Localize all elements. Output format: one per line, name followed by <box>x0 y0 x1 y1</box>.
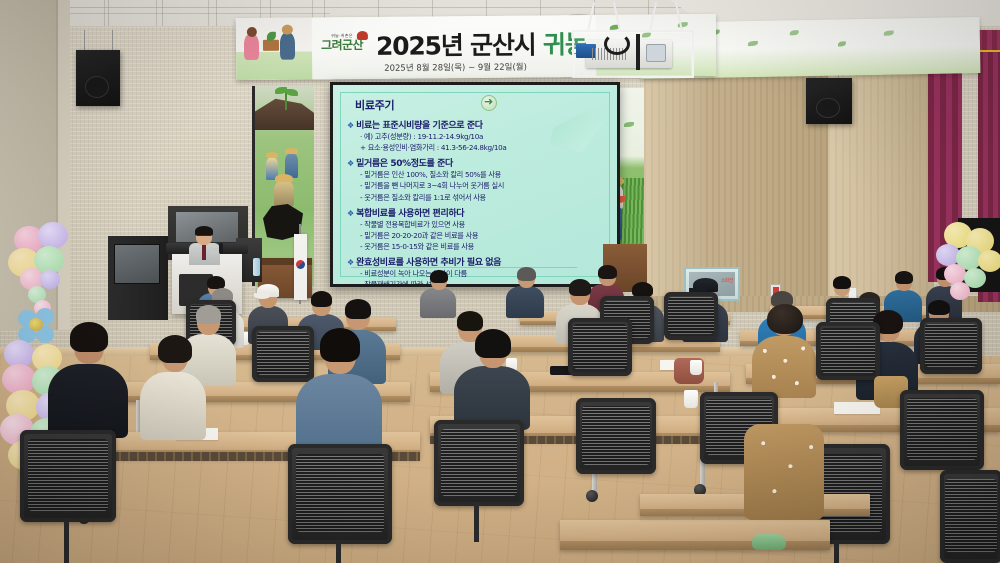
attendee-hair <box>569 279 591 296</box>
leaf-icon <box>624 122 634 127</box>
paper-cup <box>684 390 698 408</box>
chair-frame <box>940 470 1000 563</box>
chair[interactable] <box>576 398 656 474</box>
attendee <box>420 270 456 318</box>
korean-flag <box>294 234 307 300</box>
slide-bullet-list: 비료는 표준시비량을 기준으로 준다예) 고추(성분량) : 19-11.2-1… <box>347 115 609 284</box>
chair-frame <box>568 318 632 376</box>
attendee-hair <box>196 305 221 324</box>
presenter <box>186 228 222 260</box>
attendee-hair <box>70 322 108 352</box>
banner-person-right <box>280 33 295 60</box>
attendee-hair <box>632 282 653 297</box>
attendee-hair <box>833 276 851 289</box>
slide-bullet-level2: 웃거름은 15-0-15와 같은 비료를 사용 <box>360 241 609 252</box>
banner-person-left-head <box>247 27 257 37</box>
banner-plant-box <box>263 40 279 51</box>
banner-title-black: 2025년 군산시 <box>376 30 543 60</box>
chair[interactable] <box>900 390 984 470</box>
chair-post <box>474 502 479 542</box>
speaker-wire <box>84 30 85 52</box>
leaf-icon <box>790 30 799 35</box>
slide-bullet-level2: 밑거름은 인산 100%, 질소와 칼리 50%를 사용 <box>360 169 609 180</box>
chair[interactable] <box>20 430 116 522</box>
chair-frame <box>816 322 880 380</box>
banner-date: 2025년 8월 28일(목) ~ 9월 22일(월) <box>384 61 527 74</box>
banner-person-right-head <box>282 25 293 35</box>
attendee-hair <box>430 270 448 283</box>
projector-lens-icon <box>646 44 666 62</box>
slide-bullet-level2: 비료성분이 녹아 나오는 기간이 다름 <box>360 268 609 279</box>
balloon <box>40 270 60 289</box>
chair[interactable] <box>568 318 632 376</box>
balloon <box>944 264 966 284</box>
leaf-icon <box>838 41 846 46</box>
chair-frame <box>434 420 524 506</box>
attendee-hair <box>895 271 913 284</box>
slide-bullet-level2: 밑거름을 뺀 나머지로 3~4회 나누어 웃거름 실시 <box>360 180 609 191</box>
mural-sprout-leaf <box>286 89 298 96</box>
balloon <box>38 222 68 249</box>
banner-logo: 귀농·귀촌은 그려군산 <box>314 33 370 52</box>
speaker-wire <box>112 30 113 52</box>
wall-speaker-right <box>806 78 852 124</box>
slide-bullet-level2: 밑거름은 20-20-20과 같은 비료를 사용 <box>360 230 609 241</box>
chair[interactable] <box>816 322 880 380</box>
lecture-hall-photo: 귀농·귀촌은 그려군산 2025년 군산시 귀농·귀촌 2025년 8월 28일… <box>0 0 1000 563</box>
chair-frame <box>288 444 392 544</box>
attendee-hair <box>517 267 536 281</box>
projector-cable <box>604 33 630 55</box>
attendee <box>744 424 824 544</box>
attendee-hair <box>345 299 371 319</box>
attendee-torso <box>506 286 544 318</box>
chair-frame <box>900 390 984 470</box>
leaf-icon <box>884 31 894 36</box>
attendee-hair <box>320 328 360 362</box>
projection-screen: 비료주기 비료는 표준시비량을 기준으로 준다예) 고추(성분량) : 19-1… <box>330 82 620 287</box>
slide-title: 비료주기 <box>355 97 394 113</box>
chair-frame <box>920 318 982 374</box>
chair[interactable] <box>288 444 392 544</box>
microphone-icon <box>219 243 223 254</box>
attendee-torso-floral <box>752 336 816 398</box>
attendee-hair <box>928 300 950 315</box>
speaker-cone-icon <box>816 98 840 118</box>
taegeuk-icon <box>296 260 305 269</box>
attendee-woman <box>752 306 816 398</box>
cabinet-glass-panel <box>114 244 160 284</box>
speaker-cone-icon <box>85 76 109 98</box>
attendee-hair <box>475 329 511 358</box>
table-caster <box>586 490 598 502</box>
balloon <box>978 250 1000 272</box>
leaf-icon <box>748 41 758 46</box>
attendee-hair <box>158 335 192 363</box>
chair[interactable] <box>940 470 1000 563</box>
mural-farmer-body-front <box>274 182 294 206</box>
arrow-circle-icon <box>481 95 497 111</box>
chair[interactable] <box>920 318 982 374</box>
slide-bullet-level1: 비료는 표준시비량을 기준으로 준다 <box>347 118 609 131</box>
mural-soil-mound <box>252 90 314 130</box>
presenter-tie <box>202 244 206 260</box>
attendee-torso <box>296 374 382 452</box>
slide-bullet-level1: 밑거름은 50%정도를 준다 <box>347 156 609 169</box>
chair-post <box>64 518 69 563</box>
attendee-hair <box>457 311 483 331</box>
chair-frame <box>576 398 656 474</box>
shoe <box>752 534 786 550</box>
banner-logo-main: 그려군산 <box>314 39 370 52</box>
attendee-hair-permed <box>767 304 803 334</box>
slide-surface: 비료주기 비료는 표준시비량을 기준으로 준다예) 고추(성분량) : 19-1… <box>333 85 617 284</box>
attendee <box>140 336 206 438</box>
balloon-flower-center <box>29 318 43 331</box>
attendee-torso <box>744 424 824 520</box>
attendee <box>454 330 530 426</box>
attendee <box>48 324 128 436</box>
projector-antenna <box>636 34 640 70</box>
chair-post <box>834 540 839 563</box>
paper-cup <box>690 360 702 375</box>
attendee-torso <box>48 364 128 438</box>
cap-brim <box>254 293 270 299</box>
attendee <box>506 268 544 318</box>
chair-post <box>336 540 341 563</box>
slide-bullet-level2: 예) 고추(성분량) : 19-11.2-14.9kg/10a <box>360 131 609 142</box>
banner-illustration-people <box>236 17 313 80</box>
slide-bullet-level2: 요소·용성인비·염화가리 : 41.3-56-24.8kg/10a <box>360 142 609 153</box>
water-bottle <box>253 258 260 276</box>
banner-person-left <box>244 34 259 60</box>
chair-frame <box>664 292 718 340</box>
av-cabinet-left <box>108 236 168 320</box>
mushroom-logo-icon <box>357 31 368 40</box>
attendee-torso <box>140 372 206 440</box>
slide-bullet-level1: 복합비료를 사용하면 편리하다 <box>347 206 609 219</box>
chair[interactable] <box>664 292 718 340</box>
chair-frame <box>20 430 116 522</box>
handout-paper <box>834 402 880 414</box>
slide-bullet-level2: 웃거름은 질소와 칼리를 1:1로 섞어서 사용 <box>360 192 609 203</box>
presenter-glasses-icon <box>197 235 211 239</box>
balloon <box>950 282 970 300</box>
chair[interactable] <box>434 420 524 506</box>
attendee <box>296 330 382 448</box>
slide-bullet-level2: 작물별 전용복합비료가 있으면 사용 <box>360 219 609 230</box>
wall-speaker-left <box>76 50 120 106</box>
attendee-hair <box>598 265 617 279</box>
